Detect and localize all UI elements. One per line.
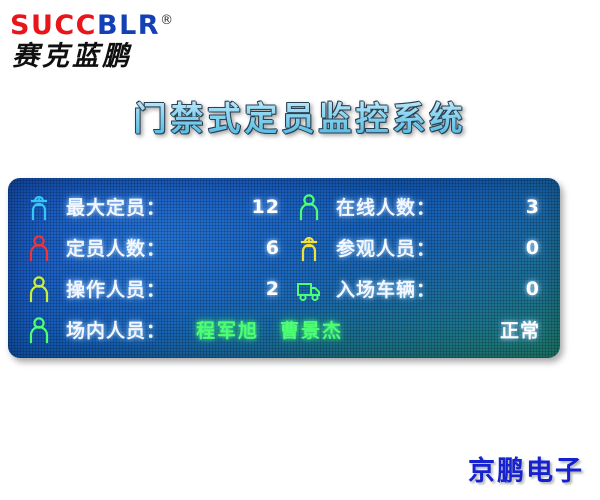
brand-latin-wordmark: SUCCBLR® xyxy=(8,6,208,41)
brand-chinese-wordmark: 赛克蓝鹏 xyxy=(8,41,208,73)
brand-latin-secondary: BLR xyxy=(97,10,160,41)
led-value: 12 xyxy=(252,196,286,218)
led-cell-max-capacity: 最大定员： 12 xyxy=(26,193,286,221)
led-row: 最大定员： 12 在线人数： 3 xyxy=(26,188,546,226)
led-cell-system-status: 正常 xyxy=(286,316,546,343)
led-cell-vehicles-entered: 入场车辆： 0 xyxy=(286,275,546,303)
led-rows: 最大定员： 12 在线人数： 3 xyxy=(8,178,560,358)
led-value: 3 xyxy=(526,196,546,218)
led-label: 定员人数： xyxy=(66,234,166,261)
person-icon xyxy=(26,275,52,303)
led-value: 2 xyxy=(266,278,286,300)
led-cell-registered-count: 定员人数： 6 xyxy=(26,234,286,262)
truck-icon xyxy=(296,275,322,303)
person-hat-icon xyxy=(296,234,322,262)
led-label: 场内人员： xyxy=(66,316,166,343)
led-cell-visitor-count: 参观人员： 0 xyxy=(286,234,546,262)
led-label: 在线人数： xyxy=(336,193,436,220)
led-row: 场内人员： 程军旭 曹景杰 正常 xyxy=(26,311,546,349)
person-icon xyxy=(26,234,52,262)
led-label: 入场车辆： xyxy=(336,275,436,302)
person-icon xyxy=(296,193,322,221)
led-cell-onsite-personnel: 场内人员： 程军旭 曹景杰 xyxy=(26,316,286,344)
led-cell-online-count: 在线人数： 3 xyxy=(286,193,546,221)
brand-latin-primary: SUCC xyxy=(10,10,97,41)
status-badge: 正常 xyxy=(500,316,546,343)
led-label: 最大定员： xyxy=(66,193,166,220)
led-display-panel: 最大定员： 12 在线人数： 3 xyxy=(8,178,560,358)
page-title: 门禁式定员监控系统 xyxy=(0,92,600,140)
led-cell-operator-count: 操作人员： 2 xyxy=(26,275,286,303)
led-value: 0 xyxy=(526,237,546,259)
led-label: 参观人员： xyxy=(336,234,436,261)
led-row: 定员人数： 6 参观人员： 0 xyxy=(26,229,546,267)
brand-logo: SUCCBLR® 赛克蓝鹏 xyxy=(8,6,208,72)
person-helmet-icon xyxy=(26,193,52,221)
led-value: 6 xyxy=(266,237,286,259)
person-icon xyxy=(26,316,52,344)
led-value: 0 xyxy=(526,278,546,300)
led-label: 操作人员： xyxy=(66,275,166,302)
led-row: 操作人员： 2 入场车辆： 0 xyxy=(26,270,546,308)
footer-company-name: 京鹏电子 xyxy=(468,449,584,488)
registered-trademark-icon: ® xyxy=(160,13,173,28)
